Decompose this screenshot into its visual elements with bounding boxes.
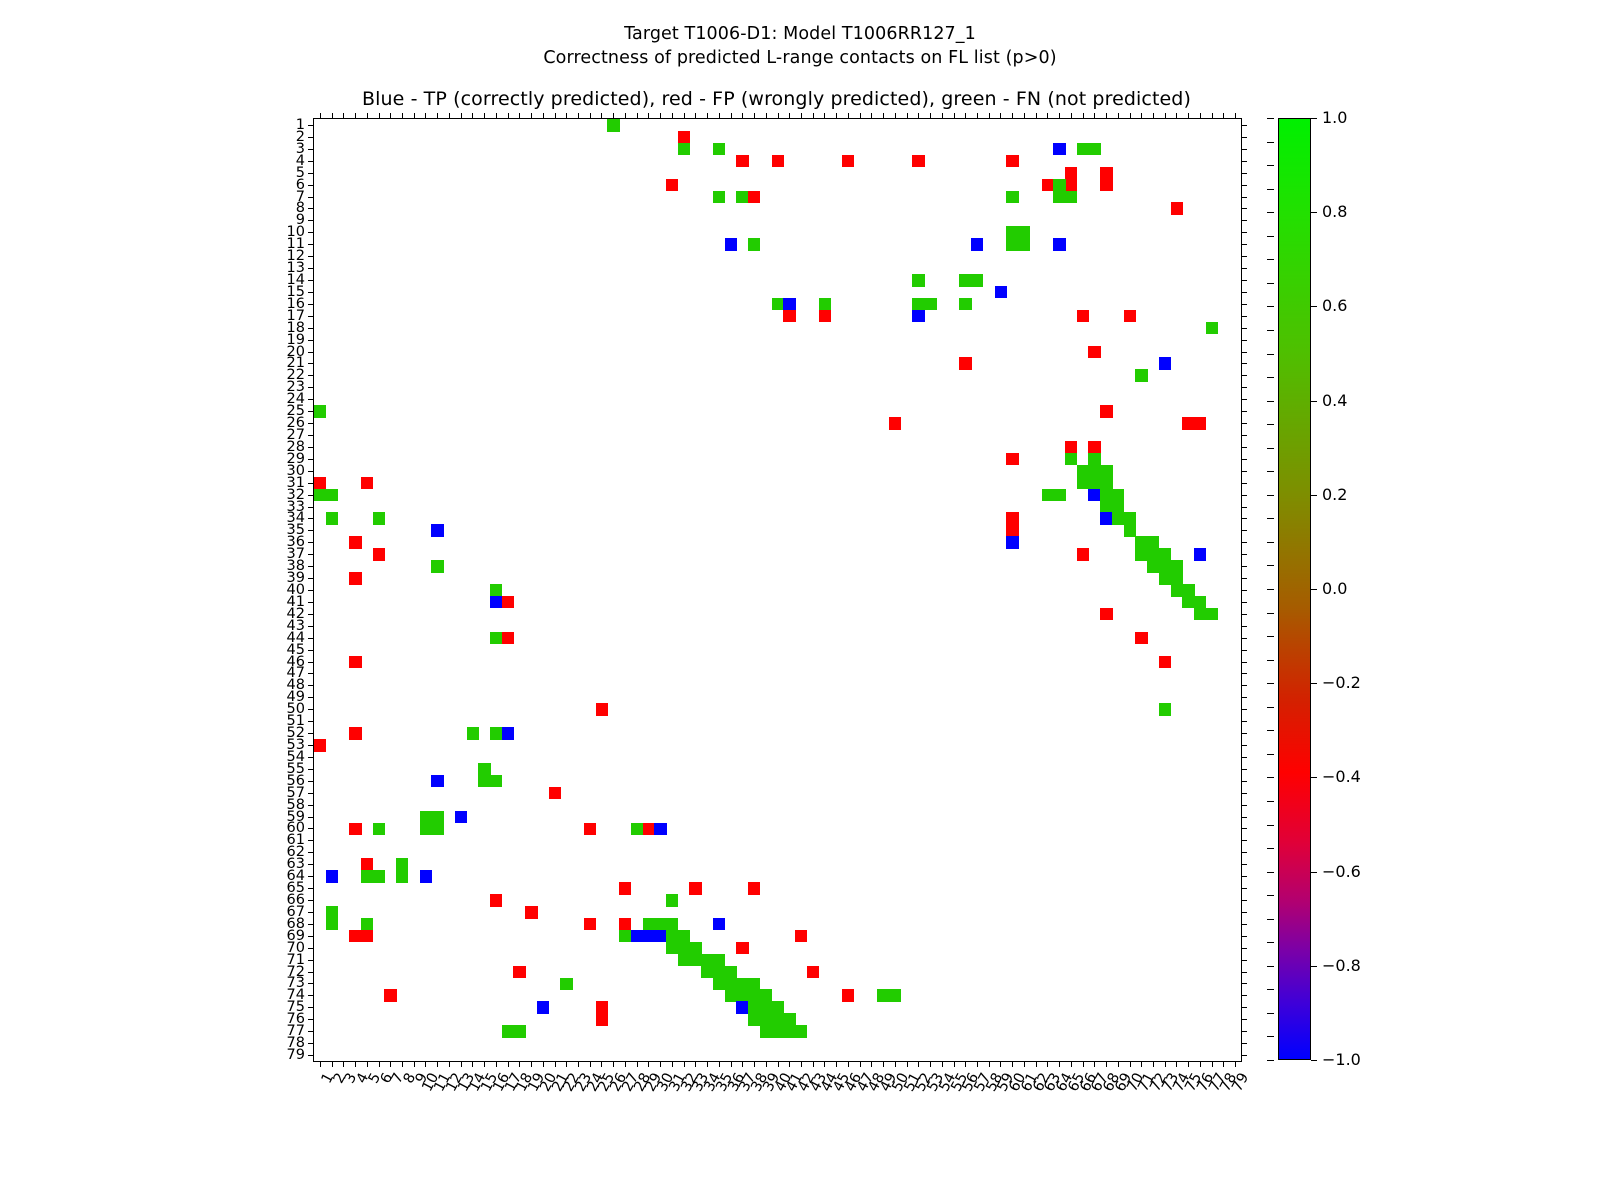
x-tick-mark bbox=[848, 1061, 849, 1067]
contact-cell bbox=[1042, 179, 1054, 192]
x-tick-mark bbox=[1083, 1061, 1084, 1067]
y-tick-mark bbox=[308, 817, 314, 818]
contact-cell bbox=[842, 155, 854, 168]
contact-cell bbox=[1088, 489, 1100, 502]
x-tick-mark-top bbox=[1047, 113, 1048, 119]
contact-cell bbox=[349, 536, 361, 549]
contact-cell bbox=[525, 906, 537, 919]
colorbar-tick-mark bbox=[1311, 1060, 1317, 1061]
y-tick-mark-right bbox=[1241, 173, 1247, 174]
x-tick-mark-top bbox=[848, 113, 849, 119]
y-tick-mark bbox=[308, 387, 314, 388]
colorbar-minor-tick bbox=[1267, 1060, 1274, 1061]
contact-cell bbox=[349, 656, 361, 669]
contact-cell bbox=[760, 1001, 772, 1014]
x-tick-mark bbox=[496, 1061, 497, 1067]
contact-cell bbox=[549, 787, 561, 800]
y-tick-mark bbox=[308, 924, 314, 925]
contact-cell bbox=[596, 1001, 608, 1014]
contact-cell bbox=[736, 191, 748, 204]
y-tick-mark-right bbox=[1241, 340, 1247, 341]
contact-cell bbox=[736, 989, 748, 1002]
x-tick-mark bbox=[1223, 1061, 1224, 1067]
y-tick-mark bbox=[308, 352, 314, 353]
y-tick-mark bbox=[308, 793, 314, 794]
contact-cell bbox=[1065, 191, 1077, 204]
contact-cell bbox=[678, 954, 690, 967]
y-tick-mark-right bbox=[1241, 650, 1247, 651]
x-tick-mark bbox=[895, 1061, 896, 1067]
x-tick-mark bbox=[1118, 1061, 1119, 1067]
contact-cell bbox=[795, 930, 807, 943]
contact-cell bbox=[1006, 226, 1018, 239]
x-tick-mark bbox=[449, 1061, 450, 1067]
x-tick-mark bbox=[883, 1061, 884, 1067]
contact-cell bbox=[1124, 310, 1136, 323]
x-tick-mark-top bbox=[566, 113, 567, 119]
colorbar-minor-tick bbox=[1267, 212, 1274, 213]
contact-cell bbox=[1171, 584, 1183, 597]
contact-cell bbox=[361, 477, 373, 490]
y-tick-mark bbox=[308, 852, 314, 853]
y-tick-mark-right bbox=[1241, 614, 1247, 615]
contact-cell bbox=[1065, 179, 1077, 192]
y-tick-mark-right bbox=[1241, 697, 1247, 698]
colorbar-minor-tick bbox=[1267, 589, 1274, 590]
x-tick-mark bbox=[332, 1061, 333, 1067]
colorbar-tick-mark bbox=[1311, 683, 1317, 684]
y-tick-mark-right bbox=[1241, 769, 1247, 770]
y-tick-mark bbox=[308, 650, 314, 651]
contact-cell bbox=[1053, 238, 1065, 251]
x-tick-mark bbox=[648, 1061, 649, 1067]
contact-cell bbox=[748, 238, 760, 251]
colorbar-minor-tick bbox=[1267, 118, 1274, 119]
colorbar-minor-tick bbox=[1267, 848, 1274, 849]
contact-cell bbox=[1006, 512, 1018, 525]
y-tick-mark bbox=[308, 316, 314, 317]
x-tick-mark bbox=[942, 1061, 943, 1067]
contact-cell bbox=[396, 858, 408, 871]
contact-cell bbox=[326, 906, 338, 919]
colorbar-minor-tick bbox=[1267, 1036, 1274, 1037]
y-tick-mark-right bbox=[1241, 578, 1247, 579]
y-tick-mark-right bbox=[1241, 244, 1247, 245]
x-tick-mark-top bbox=[789, 113, 790, 119]
x-tick-mark bbox=[1212, 1061, 1213, 1067]
chart-legend-subtitle: Blue - TP (correctly predicted), red - F… bbox=[313, 88, 1240, 110]
contact-cell bbox=[643, 823, 655, 836]
y-tick-mark bbox=[308, 972, 314, 973]
x-tick-mark-top bbox=[766, 113, 767, 119]
y-tick-mark bbox=[308, 185, 314, 186]
y-tick-mark bbox=[308, 1043, 314, 1044]
contact-cell bbox=[513, 966, 525, 979]
y-tick-mark bbox=[308, 673, 314, 674]
contact-cell bbox=[326, 870, 338, 883]
y-tick-mark-right bbox=[1241, 900, 1247, 901]
contact-cell bbox=[1100, 477, 1112, 490]
y-tick-mark-right bbox=[1241, 411, 1247, 412]
y-tick-mark bbox=[308, 554, 314, 555]
y-tick-mark-right bbox=[1241, 1055, 1247, 1056]
contact-cell bbox=[1065, 441, 1077, 454]
x-tick-mark-top bbox=[707, 113, 708, 119]
x-tick-mark bbox=[860, 1061, 861, 1067]
contact-cell bbox=[713, 966, 725, 979]
x-tick-mark bbox=[907, 1061, 908, 1067]
contact-cell bbox=[1006, 536, 1018, 549]
x-tick-mark-top bbox=[1036, 113, 1037, 119]
y-tick-mark bbox=[308, 125, 314, 126]
y-tick-mark bbox=[308, 399, 314, 400]
contact-cell bbox=[1194, 596, 1206, 609]
contact-cell bbox=[631, 823, 643, 836]
x-tick-mark bbox=[766, 1061, 767, 1067]
contact-cell bbox=[1088, 441, 1100, 454]
x-tick-mark-top bbox=[907, 113, 908, 119]
contact-cell bbox=[772, 298, 784, 311]
colorbar-minor-tick bbox=[1267, 707, 1274, 708]
y-tick-mark bbox=[308, 507, 314, 508]
x-tick-mark bbox=[566, 1061, 567, 1067]
x-tick-mark-top bbox=[425, 113, 426, 119]
contact-cell bbox=[971, 274, 983, 287]
contact-cell bbox=[361, 918, 373, 931]
colorbar-minor-tick bbox=[1267, 966, 1274, 967]
y-tick-mark-right bbox=[1241, 352, 1247, 353]
contact-cell bbox=[959, 357, 971, 370]
x-tick-mark-top bbox=[742, 113, 743, 119]
contact-cell bbox=[502, 632, 514, 645]
colorbar-minor-tick bbox=[1267, 730, 1274, 731]
x-tick-mark bbox=[355, 1061, 356, 1067]
y-tick-mark-right bbox=[1241, 936, 1247, 937]
y-tick-mark bbox=[308, 614, 314, 615]
contact-cell bbox=[314, 477, 326, 490]
x-tick-mark-top bbox=[578, 113, 579, 119]
y-tick-mark-right bbox=[1241, 912, 1247, 913]
x-tick-mark bbox=[789, 1061, 790, 1067]
x-tick-mark-top bbox=[343, 113, 344, 119]
colorbar-minor-tick bbox=[1267, 236, 1274, 237]
contact-cell bbox=[478, 775, 490, 788]
colorbar-tick-mark bbox=[1311, 966, 1317, 967]
colorbar-tick-label: 0.8 bbox=[1322, 204, 1347, 220]
contact-cell bbox=[1088, 346, 1100, 359]
x-tick-mark bbox=[320, 1061, 321, 1067]
y-tick-mark bbox=[308, 662, 314, 663]
contact-cell bbox=[502, 596, 514, 609]
contact-cell bbox=[748, 882, 760, 895]
colorbar-tick-mark bbox=[1311, 589, 1317, 590]
x-tick-mark-top bbox=[1083, 113, 1084, 119]
contact-cell bbox=[1112, 501, 1124, 514]
x-tick-mark-top bbox=[402, 113, 403, 119]
contact-cell bbox=[1006, 155, 1018, 168]
x-tick-mark bbox=[660, 1061, 661, 1067]
y-tick-label: 79 bbox=[287, 1048, 305, 1063]
y-tick-mark-right bbox=[1241, 542, 1247, 543]
colorbar[interactable]: 1.00.80.60.40.20.0−0.2−0.4−0.6−0.8−1.0 bbox=[1278, 118, 1311, 1060]
contact-cell bbox=[584, 823, 596, 836]
y-tick-mark bbox=[308, 483, 314, 484]
x-tick-mark-top bbox=[918, 113, 919, 119]
y-tick-mark-right bbox=[1241, 983, 1247, 984]
x-tick-mark bbox=[1200, 1061, 1201, 1067]
contact-cell bbox=[736, 978, 748, 991]
x-tick-mark bbox=[801, 1061, 802, 1067]
colorbar-tick-label: 0.6 bbox=[1322, 298, 1347, 314]
colorbar-tick-mark bbox=[1311, 212, 1317, 213]
x-tick-mark bbox=[871, 1061, 872, 1067]
colorbar-minor-tick bbox=[1267, 165, 1274, 166]
contact-cell bbox=[326, 489, 338, 502]
contact-cell bbox=[502, 727, 514, 740]
contact-cell bbox=[678, 930, 690, 943]
colorbar-minor-tick bbox=[1267, 636, 1274, 637]
y-tick-mark-right bbox=[1241, 709, 1247, 710]
contact-cell bbox=[1159, 703, 1171, 716]
x-tick-mark-top bbox=[989, 113, 990, 119]
contact-cell bbox=[326, 512, 338, 525]
x-tick-mark-top bbox=[895, 113, 896, 119]
contact-cell bbox=[842, 989, 854, 1002]
contact-cell bbox=[1171, 202, 1183, 215]
y-tick-mark-right bbox=[1241, 507, 1247, 508]
y-tick-mark bbox=[308, 805, 314, 806]
contact-cell bbox=[1077, 548, 1089, 561]
colorbar-tick-mark bbox=[1311, 306, 1317, 307]
contact-cell bbox=[725, 989, 737, 1002]
contact-cell bbox=[713, 954, 725, 967]
y-tick-mark bbox=[308, 840, 314, 841]
contact-cell bbox=[1018, 238, 1030, 251]
y-tick-mark bbox=[308, 888, 314, 889]
contact-cell bbox=[959, 298, 971, 311]
colorbar-tick-label: 0.4 bbox=[1322, 393, 1347, 409]
contact-cell bbox=[783, 298, 795, 311]
contact-cell bbox=[467, 727, 479, 740]
contact-cell bbox=[349, 572, 361, 585]
contact-cell bbox=[713, 978, 725, 991]
y-tick-mark-right bbox=[1241, 495, 1247, 496]
y-tick-mark bbox=[308, 757, 314, 758]
contact-cell bbox=[1159, 656, 1171, 669]
y-tick-mark-right bbox=[1241, 149, 1247, 150]
contact-cell bbox=[725, 978, 737, 991]
x-tick-mark-top bbox=[1130, 113, 1131, 119]
x-tick-mark bbox=[672, 1061, 673, 1067]
y-tick-mark bbox=[308, 232, 314, 233]
y-tick-mark-right bbox=[1241, 387, 1247, 388]
contact-cell bbox=[701, 954, 713, 967]
x-tick-mark bbox=[1024, 1061, 1025, 1067]
contact-cell bbox=[912, 155, 924, 168]
contact-cell bbox=[1100, 405, 1112, 418]
y-tick-mark bbox=[308, 626, 314, 627]
x-tick-mark-top bbox=[543, 113, 544, 119]
contact-cell bbox=[725, 966, 737, 979]
contact-cell bbox=[490, 596, 502, 609]
contact-cell bbox=[314, 739, 326, 752]
contact-cell bbox=[1077, 143, 1089, 156]
y-tick-mark-right bbox=[1241, 733, 1247, 734]
contact-map-plot-area[interactable]: 1234567891011121314151617181920212223242… bbox=[313, 118, 1242, 1062]
y-tick-mark bbox=[308, 423, 314, 424]
y-tick-mark bbox=[308, 1019, 314, 1020]
contact-cell bbox=[431, 811, 443, 824]
contact-cell bbox=[1053, 143, 1065, 156]
x-tick-mark bbox=[813, 1061, 814, 1067]
x-tick-mark-top bbox=[332, 113, 333, 119]
x-tick-mark-top bbox=[695, 113, 696, 119]
contact-cell bbox=[619, 882, 631, 895]
y-tick-mark-right bbox=[1241, 673, 1247, 674]
colorbar-minor-tick bbox=[1267, 989, 1274, 990]
y-tick-mark-right bbox=[1241, 960, 1247, 961]
y-tick-mark bbox=[308, 161, 314, 162]
contact-cell bbox=[326, 918, 338, 931]
x-tick-mark bbox=[1130, 1061, 1131, 1067]
x-tick-mark-top bbox=[449, 113, 450, 119]
x-tick-mark bbox=[1165, 1061, 1166, 1067]
y-tick-mark-right bbox=[1241, 554, 1247, 555]
contact-cell bbox=[1088, 465, 1100, 478]
y-tick-mark-right bbox=[1241, 137, 1247, 138]
x-tick-mark-top bbox=[672, 113, 673, 119]
contact-cell bbox=[490, 894, 502, 907]
y-tick-mark-right bbox=[1241, 518, 1247, 519]
y-tick-mark-right bbox=[1241, 852, 1247, 853]
y-tick-mark bbox=[308, 1031, 314, 1032]
x-tick-mark bbox=[707, 1061, 708, 1067]
y-tick-mark-right bbox=[1241, 566, 1247, 567]
contact-cell bbox=[619, 918, 631, 931]
contact-cell bbox=[361, 858, 373, 871]
x-tick-mark bbox=[367, 1061, 368, 1067]
x-tick-mark-top bbox=[1059, 113, 1060, 119]
contact-cell bbox=[396, 870, 408, 883]
contact-cell bbox=[619, 930, 631, 943]
contact-cell bbox=[783, 310, 795, 323]
colorbar-minor-tick bbox=[1267, 801, 1274, 802]
contact-cell bbox=[1053, 179, 1065, 192]
y-tick-mark bbox=[308, 721, 314, 722]
x-tick-mark-top bbox=[1106, 113, 1107, 119]
contact-cell bbox=[1065, 167, 1077, 180]
contact-cell bbox=[772, 1001, 784, 1014]
x-tick-mark bbox=[543, 1061, 544, 1067]
contact-cell bbox=[1077, 465, 1089, 478]
contact-cell bbox=[783, 1025, 795, 1038]
y-tick-mark-right bbox=[1241, 304, 1247, 305]
contact-cell bbox=[361, 930, 373, 943]
x-tick-mark bbox=[989, 1061, 990, 1067]
colorbar-minor-tick bbox=[1267, 1013, 1274, 1014]
y-tick-mark-right bbox=[1241, 316, 1247, 317]
colorbar-minor-tick bbox=[1267, 189, 1274, 190]
colorbar-minor-tick bbox=[1267, 683, 1274, 684]
x-tick-mark bbox=[390, 1061, 391, 1067]
x-tick-mark bbox=[484, 1061, 485, 1067]
contact-cell bbox=[748, 978, 760, 991]
x-tick-mark-top bbox=[496, 113, 497, 119]
contact-cell bbox=[1135, 536, 1147, 549]
contact-cell bbox=[1147, 536, 1159, 549]
y-tick-mark bbox=[308, 948, 314, 949]
y-tick-mark-right bbox=[1241, 483, 1247, 484]
x-tick-mark-top bbox=[860, 113, 861, 119]
x-tick-mark-top bbox=[836, 113, 837, 119]
x-tick-mark bbox=[731, 1061, 732, 1067]
y-tick-mark-right bbox=[1241, 972, 1247, 973]
contact-cell bbox=[971, 238, 983, 251]
y-tick-mark bbox=[308, 447, 314, 448]
x-tick-mark bbox=[742, 1061, 743, 1067]
contact-cell bbox=[455, 811, 467, 824]
colorbar-minor-tick bbox=[1267, 825, 1274, 826]
x-tick-mark-top bbox=[1012, 113, 1013, 119]
contact-cell bbox=[689, 942, 701, 955]
contact-cell bbox=[689, 954, 701, 967]
contact-cell bbox=[819, 310, 831, 323]
x-tick-mark-top bbox=[684, 113, 685, 119]
x-tick-mark bbox=[1235, 1061, 1236, 1067]
y-tick-mark bbox=[308, 411, 314, 412]
y-tick-mark-right bbox=[1241, 220, 1247, 221]
y-tick-mark bbox=[308, 733, 314, 734]
colorbar-tick-label: −1.0 bbox=[1322, 1052, 1361, 1068]
x-tick-mark-top bbox=[1176, 113, 1177, 119]
contact-cell bbox=[1182, 584, 1194, 597]
colorbar-tick-mark bbox=[1311, 872, 1317, 873]
contact-cell bbox=[1042, 489, 1054, 502]
contact-cell bbox=[654, 823, 666, 836]
colorbar-tick-label: −0.2 bbox=[1322, 675, 1361, 691]
x-tick-mark bbox=[754, 1061, 755, 1067]
x-tick-mark bbox=[519, 1061, 520, 1067]
contact-cell bbox=[666, 179, 678, 192]
contact-cell bbox=[1006, 453, 1018, 466]
y-tick-mark bbox=[308, 602, 314, 603]
y-tick-mark-right bbox=[1241, 292, 1247, 293]
x-tick-mark-top bbox=[379, 113, 380, 119]
y-tick-mark bbox=[308, 709, 314, 710]
contact-cell bbox=[1124, 512, 1136, 525]
colorbar-tick-mark bbox=[1311, 118, 1317, 119]
x-tick-mark-top bbox=[871, 113, 872, 119]
contact-cell bbox=[490, 727, 502, 740]
x-tick-mark-top bbox=[977, 113, 978, 119]
colorbar-minor-tick bbox=[1267, 377, 1274, 378]
y-tick-mark bbox=[308, 638, 314, 639]
contact-cell bbox=[1088, 453, 1100, 466]
y-tick-mark-right bbox=[1241, 685, 1247, 686]
colorbar-minor-tick bbox=[1267, 777, 1274, 778]
x-tick-mark bbox=[1036, 1061, 1037, 1067]
y-tick-mark bbox=[308, 340, 314, 341]
contact-cell bbox=[760, 1013, 772, 1026]
chart-title-line-2: Correctness of predicted L-range contact… bbox=[0, 46, 1600, 70]
x-tick-mark bbox=[836, 1061, 837, 1067]
y-tick-mark bbox=[308, 328, 314, 329]
contact-cell bbox=[1194, 417, 1206, 430]
y-tick-mark bbox=[308, 530, 314, 531]
y-tick-mark-right bbox=[1241, 328, 1247, 329]
x-tick-mark bbox=[508, 1061, 509, 1067]
y-tick-mark bbox=[308, 781, 314, 782]
